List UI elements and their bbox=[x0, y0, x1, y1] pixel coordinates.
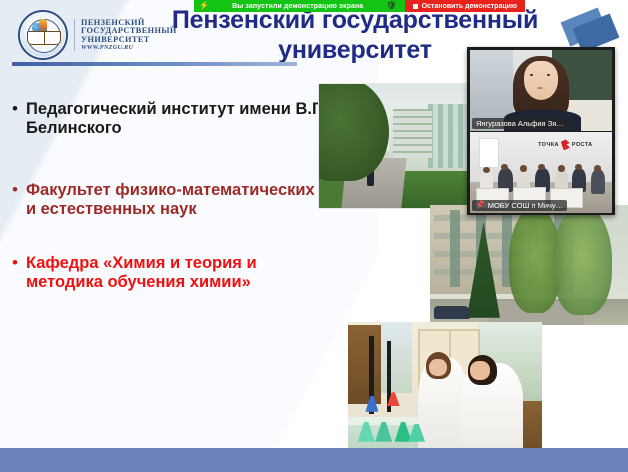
participant-name-badge: 📌 МОБУ СОШ п Мичу… bbox=[472, 200, 567, 212]
slide-bullet-list: • Педагогический институт имени В.Г. Бел… bbox=[8, 100, 328, 303]
lightning-icon: ⚡ bbox=[199, 2, 209, 10]
shield-icon[interactable]: 🛡 bbox=[386, 2, 396, 10]
pin-icon: 📌 bbox=[475, 201, 485, 210]
bullet-text-3: Кафедра «Химия и теория и методика обуче… bbox=[26, 254, 328, 293]
stop-sharing-button[interactable]: Остановить демонстрацию bbox=[405, 0, 525, 12]
title-underline-rule bbox=[12, 62, 297, 66]
screen-share-notification-bar: ⚡ Вы запустили демонстрацию экрана 🛡 Ост… bbox=[194, 0, 525, 12]
tochka-rosta-logo: ТОЧКА РОСТА bbox=[538, 138, 600, 151]
bullet-text-2: Факультет физико-математических и естест… bbox=[26, 181, 328, 220]
video-call-panel[interactable]: Янгуразова Альфия Зя… ТОЧКА РОСТА 📌 bbox=[467, 47, 615, 215]
stop-square-icon bbox=[413, 4, 418, 9]
bird-icon bbox=[561, 139, 570, 150]
bullet-item-3: • Кафедра «Химия и теория и методика обу… bbox=[8, 254, 328, 293]
share-status-banner: ⚡ Вы запустили демонстрацию экрана 🛡 bbox=[194, 0, 405, 12]
blue-parallelogram-decoration bbox=[562, 12, 620, 52]
university-seal-icon bbox=[18, 10, 68, 60]
participant-name-badge: Янгуразова Альфия Зя… bbox=[472, 118, 568, 130]
participant-name-presenter: Янгуразова Альфия Зя… bbox=[476, 120, 564, 128]
bullet-item-1: • Педагогический институт имени В.Г. Бел… bbox=[8, 100, 328, 139]
video-tile-classroom[interactable]: ТОЧКА РОСТА 📌 МОБУ СОШ п Мичу… bbox=[470, 132, 612, 213]
slide-footer-bar bbox=[0, 448, 628, 472]
bullet-marker-icon: • bbox=[8, 254, 18, 272]
photo-chemistry-lab bbox=[348, 322, 542, 458]
bullet-text-1: Педагогический институт имени В.Г. Белин… bbox=[26, 100, 328, 139]
photo-campus-building bbox=[430, 205, 628, 325]
video-tile-presenter[interactable]: Янгуразова Альфия Зя… bbox=[470, 50, 612, 131]
bullet-marker-icon: • bbox=[8, 100, 18, 118]
stop-sharing-label: Остановить демонстрацию bbox=[422, 3, 517, 10]
tochka-rosta-right-text: РОСТА bbox=[572, 142, 593, 148]
share-status-text: Вы запустили демонстрацию экрана bbox=[214, 3, 381, 10]
bullet-marker-icon: • bbox=[8, 181, 18, 199]
participant-name-classroom: МОБУ СОШ п Мичу… bbox=[488, 202, 563, 210]
bullet-item-2: • Факультет физико-математических и есте… bbox=[8, 181, 328, 220]
tochka-rosta-left-text: ТОЧКА bbox=[538, 142, 559, 148]
screenshot-root: ПЕНЗЕНСКИЙ ГОСУДАРСТВЕННЫЙ УНИВЕРСИТЕТ W… bbox=[0, 0, 628, 472]
